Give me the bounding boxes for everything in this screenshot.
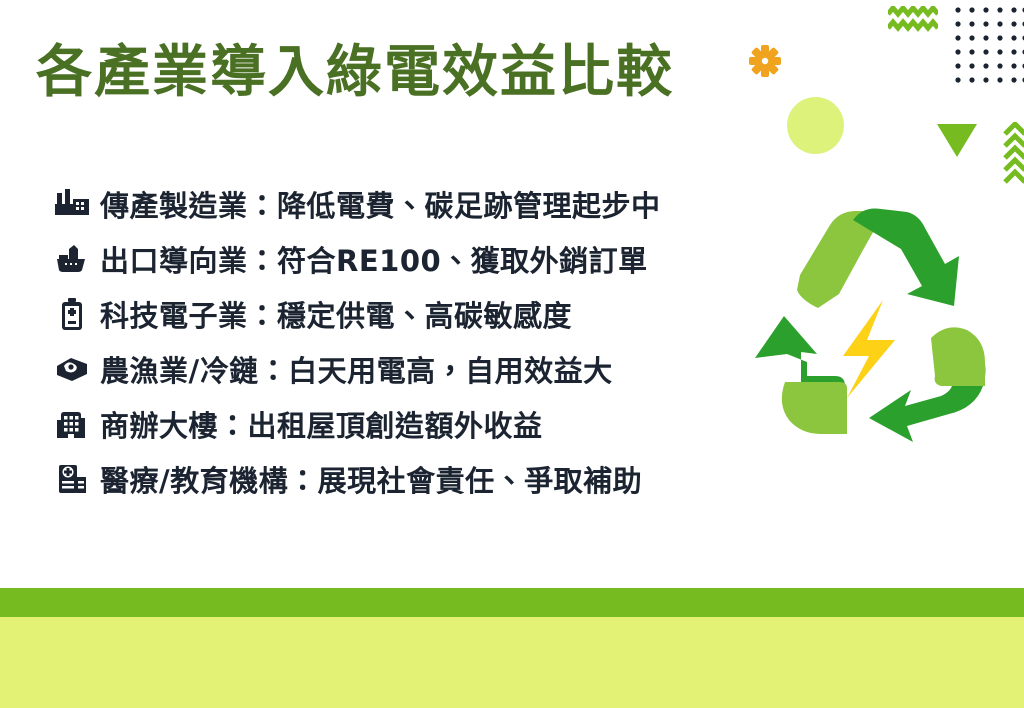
factory-icon [52, 184, 92, 224]
lime-circle-decoration [787, 97, 844, 154]
page-title: 各產業導入綠電效益比較 [36, 42, 674, 104]
list-item: 醫療/教育機構：展現社會責任、爭取補助 [52, 451, 742, 506]
recycle-energy-icon [735, 190, 1015, 470]
list-item-label: 商辦大樓：出租屋頂創造額外收益 [100, 403, 543, 445]
list-item-label: 出口導向業：符合RE100、獲取外銷訂單 [100, 238, 648, 280]
bottom-lime-band [0, 617, 1024, 708]
zigzag-lines-decoration [888, 6, 938, 32]
list-item: 傳產製造業：降低電費、碳足跡管理起步中 [52, 176, 742, 231]
list-item: 科技電子業：穩定供電、高碳敏感度 [52, 286, 742, 341]
office-building-icon [52, 404, 92, 444]
cargo-ship-icon [52, 239, 92, 279]
industry-benefit-list: 傳產製造業：降低電費、碳足跡管理起步中 出口導向業：符合R [52, 176, 742, 506]
battery-icon [52, 294, 92, 334]
medical-clipboard-icon [52, 459, 92, 499]
list-item-label: 科技電子業：穩定供電、高碳敏感度 [100, 293, 572, 335]
asterisk-flower-decoration [748, 44, 782, 78]
green-triangle-decoration [937, 124, 977, 157]
list-item: 出口導向業：符合RE100、獲取外銷訂單 [52, 231, 742, 286]
list-item: 農漁業/冷鏈：白天用電高，自用效益大 [52, 341, 742, 396]
dot-grid-decoration [954, 6, 1024, 86]
bottom-green-band [0, 588, 1024, 617]
list-item-label: 醫療/教育機構：展現社會責任、爭取補助 [100, 458, 642, 500]
list-item-label: 傳產製造業：降低電費、碳足跡管理起步中 [100, 183, 661, 225]
slide-canvas: 各產業導入綠電效益比較 [0, 0, 1024, 708]
package-box-icon [52, 349, 92, 389]
chevron-stack-decoration [1003, 122, 1024, 184]
list-item-label: 農漁業/冷鏈：白天用電高，自用效益大 [100, 348, 613, 390]
list-item: 商辦大樓：出租屋頂創造額外收益 [52, 396, 742, 451]
